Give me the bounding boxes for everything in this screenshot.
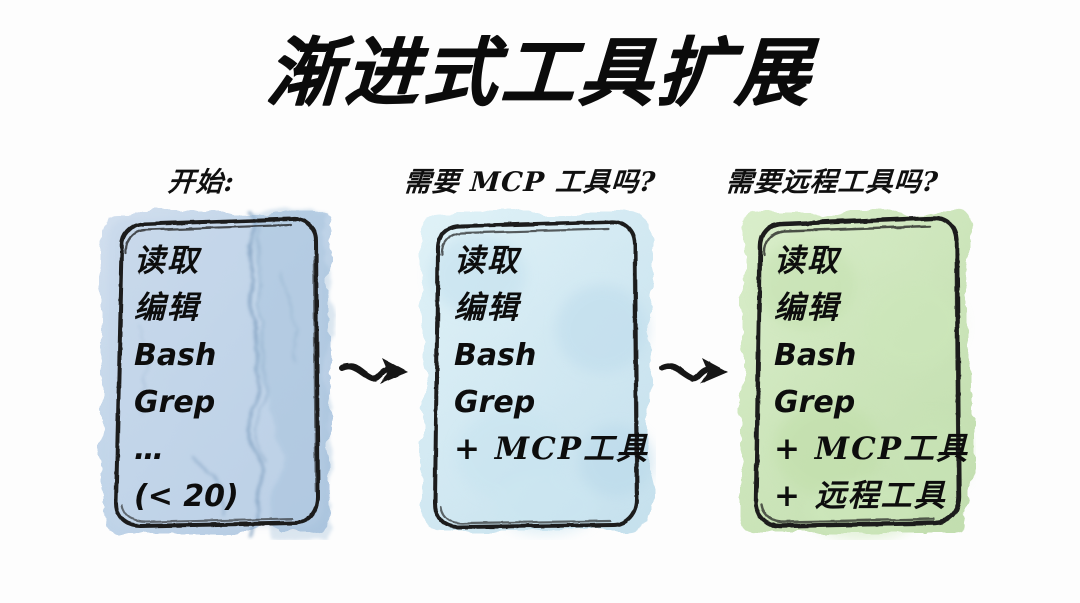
list-item: Grep — [454, 379, 649, 426]
list-item: 编辑 — [774, 285, 969, 332]
stage-box-2: 读取 编辑 Bash Grep + MCP工具 + 远程工具 — [736, 205, 976, 540]
list-item: 编辑 — [454, 285, 649, 332]
list-item: + MCP工具 — [454, 426, 649, 473]
stage-box-1: 读取 编辑 Bash Grep + MCP工具 — [416, 205, 656, 540]
list-item: Bash — [774, 332, 969, 379]
diagram-canvas: 渐进式工具扩展 开始: — [0, 0, 1080, 603]
list-item: + MCP工具 — [774, 426, 969, 473]
stage-label-1: 需要 MCP 工具吗? — [403, 160, 658, 199]
list-item: 编辑 — [134, 285, 329, 332]
stage-label-0: 开始: — [167, 160, 237, 199]
list-item: 读取 — [134, 238, 329, 285]
list-item: 读取 — [454, 238, 649, 285]
list-item: (< 20) — [134, 473, 329, 520]
list-item: Bash — [454, 332, 649, 379]
list-item: Grep — [774, 379, 969, 426]
arrow-stage-1-to-2 — [658, 352, 738, 400]
stage-list-2: 读取 编辑 Bash Grep + MCP工具 + 远程工具 — [774, 238, 969, 520]
stage-list-1: 读取 编辑 Bash Grep + MCP工具 — [454, 238, 649, 473]
stage-label-2: 需要远程工具吗? — [725, 160, 941, 199]
list-item: 读取 — [774, 238, 969, 285]
list-item: … — [134, 426, 329, 473]
list-item: + 远程工具 — [774, 473, 969, 520]
list-item: Bash — [134, 332, 329, 379]
stage-list-0: 读取 编辑 Bash Grep … (< 20) — [134, 238, 329, 520]
page-title: 渐进式工具扩展 — [0, 36, 1080, 110]
list-item: Grep — [134, 379, 329, 426]
arrow-stage-0-to-1 — [338, 352, 418, 400]
stage-box-0: 读取 编辑 Bash Grep … (< 20) — [96, 205, 336, 540]
